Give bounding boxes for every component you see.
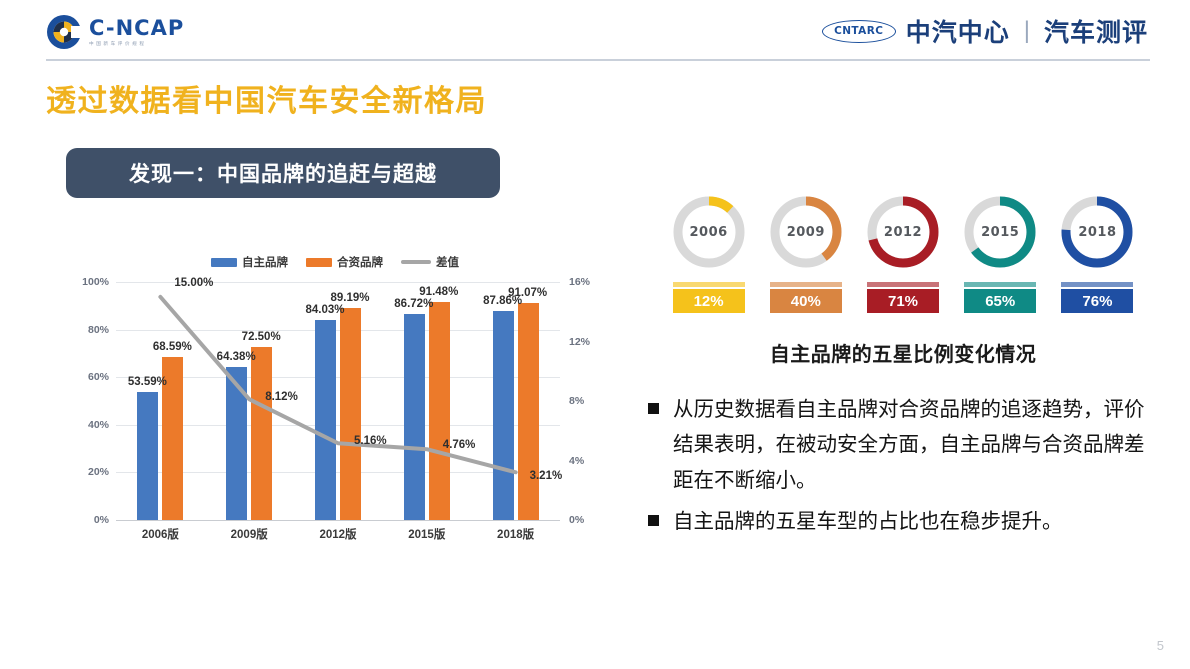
cntarc-section-name: 汽车测评 — [1044, 13, 1148, 49]
difference-value-label: 15.00% — [174, 277, 213, 289]
y-axis-tick-right: 0% — [569, 514, 584, 526]
y-axis-tick-right: 12% — [569, 336, 590, 348]
donut-chart-row: 200612%200940%201271%201565%201876% — [668, 192, 1138, 320]
percent-topbar — [964, 282, 1036, 287]
percent-badge: 76% — [1061, 289, 1133, 313]
chart-legend: 自主品牌合资品牌差值 — [70, 252, 600, 272]
cncap-name: C-NCAP — [89, 18, 184, 39]
legend-label: 自主品牌 — [242, 254, 288, 270]
difference-value-label: 3.21% — [530, 470, 563, 482]
donut-ring: 2018 — [1057, 192, 1137, 272]
finding-banner: 发现一：中国品牌的追赶与超越 — [66, 148, 500, 198]
cncap-subtitle: 中国新车评价规程 — [89, 42, 184, 47]
cntarc-divider: | — [1024, 17, 1030, 45]
percent-topbar — [770, 282, 842, 287]
bullet-item-0: 从历史数据看自主品牌对合资品牌的追逐趋势，评价结果表明，在被动安全方面，自主品牌… — [648, 392, 1158, 498]
y-axis-tick-left: 40% — [88, 419, 109, 431]
percent-badge: 40% — [770, 289, 842, 313]
x-axis-label: 2015版 — [408, 526, 445, 542]
y-axis-tick-left: 60% — [88, 371, 109, 383]
y-axis-tick-left: 80% — [88, 324, 109, 336]
donut-year-label: 2012 — [863, 192, 943, 272]
percent-topbar — [1061, 282, 1133, 287]
legend-swatch-icon — [211, 258, 237, 267]
cncap-wordmark: C-NCAP 中国新车评价规程 — [89, 18, 184, 47]
cntarc-logo: CNTARC 中汽中心 | 汽车测评 — [822, 13, 1148, 49]
legend-item-1[interactable]: 合资品牌 — [306, 254, 383, 270]
x-axis-label: 2018版 — [497, 526, 534, 542]
y-axis-tick-right: 16% — [569, 276, 590, 288]
page-number: 5 — [1157, 638, 1164, 653]
percent-badge: 12% — [673, 289, 745, 313]
donut-ring: 2009 — [766, 192, 846, 272]
donut-ring: 2015 — [960, 192, 1040, 272]
donut-ring: 2012 — [863, 192, 943, 272]
legend-swatch-icon — [401, 260, 431, 264]
finding-banner-label: 发现一：中国品牌的追赶与超越 — [129, 158, 437, 188]
bullet-text: 从历史数据看自主品牌对合资品牌的追逐趋势，评价结果表明，在被动安全方面，自主品牌… — [673, 392, 1158, 498]
donut-caption: 自主品牌的五星比例变化情况 — [668, 338, 1138, 367]
cncap-logo: C-NCAP 中国新车评价规程 — [46, 14, 184, 50]
bullet-item-1: 自主品牌的五星车型的占比也在稳步提升。 — [648, 504, 1158, 539]
donut-ring: 2006 — [669, 192, 749, 272]
donut-cell-2015[interactable]: 201565% — [960, 192, 1041, 320]
legend-label: 合资品牌 — [337, 254, 383, 270]
donut-cell-2006[interactable]: 200612% — [668, 192, 749, 320]
percent-badge: 71% — [867, 289, 939, 313]
legend-item-2[interactable]: 差值 — [401, 254, 459, 270]
cncap-emblem-icon — [46, 14, 82, 50]
cntarc-emblem-icon: CNTARC — [822, 20, 896, 43]
legend-swatch-icon — [306, 258, 332, 267]
donut-year-label: 2018 — [1057, 192, 1137, 272]
donut-cell-2018[interactable]: 201876% — [1057, 192, 1138, 320]
percent-topbar — [673, 282, 745, 287]
legend-item-0[interactable]: 自主品牌 — [211, 254, 288, 270]
bullet-list: 从历史数据看自主品牌对合资品牌的追逐趋势，评价结果表明，在被动安全方面，自主品牌… — [648, 392, 1158, 545]
page-title: 透过数据看中国汽车安全新格局 — [46, 76, 487, 120]
difference-value-label: 5.16% — [354, 435, 387, 447]
bullet-text: 自主品牌的五星车型的占比也在稳步提升。 — [673, 504, 1063, 539]
donut-year-label: 2015 — [960, 192, 1040, 272]
y-axis-tick-right: 8% — [569, 395, 584, 407]
bullet-square-icon — [648, 515, 659, 526]
brand-comparison-chart: 自主品牌合资品牌差值 0%20%40%60%80%100%0%4%8%12%16… — [70, 252, 600, 572]
cntarc-mark-text: CNTARC — [834, 25, 883, 37]
bullet-square-icon — [648, 403, 659, 414]
gridline — [116, 520, 560, 521]
y-axis-tick-right: 4% — [569, 455, 584, 467]
legend-label: 差值 — [436, 254, 459, 270]
slide-header: C-NCAP 中国新车评价规程 CNTARC 中汽中心 | 汽车测评 — [0, 0, 1190, 62]
donut-cell-2012[interactable]: 201271% — [862, 192, 943, 320]
x-axis-label: 2006版 — [142, 526, 179, 542]
x-axis-label: 2009版 — [231, 526, 268, 542]
donut-cell-2009[interactable]: 200940% — [765, 192, 846, 320]
difference-line — [116, 282, 560, 520]
difference-value-label: 8.12% — [265, 391, 298, 403]
header-divider — [46, 59, 1150, 61]
percent-topbar — [867, 282, 939, 287]
donut-year-label: 2006 — [669, 192, 749, 272]
y-axis-tick-left: 100% — [82, 276, 109, 288]
x-axis-label: 2012版 — [319, 526, 356, 542]
percent-badge: 65% — [964, 289, 1036, 313]
donut-year-label: 2009 — [766, 192, 846, 272]
y-axis-tick-left: 20% — [88, 466, 109, 478]
chart-plot-inner: 0%20%40%60%80%100%0%4%8%12%16%53.59%68.5… — [116, 282, 560, 520]
cntarc-org-name: 中汽中心 — [906, 13, 1010, 49]
y-axis-tick-left: 0% — [94, 514, 109, 526]
difference-value-label: 4.76% — [443, 439, 476, 451]
chart-plot-area: 0%20%40%60%80%100%0%4%8%12%16%53.59%68.5… — [70, 282, 600, 534]
